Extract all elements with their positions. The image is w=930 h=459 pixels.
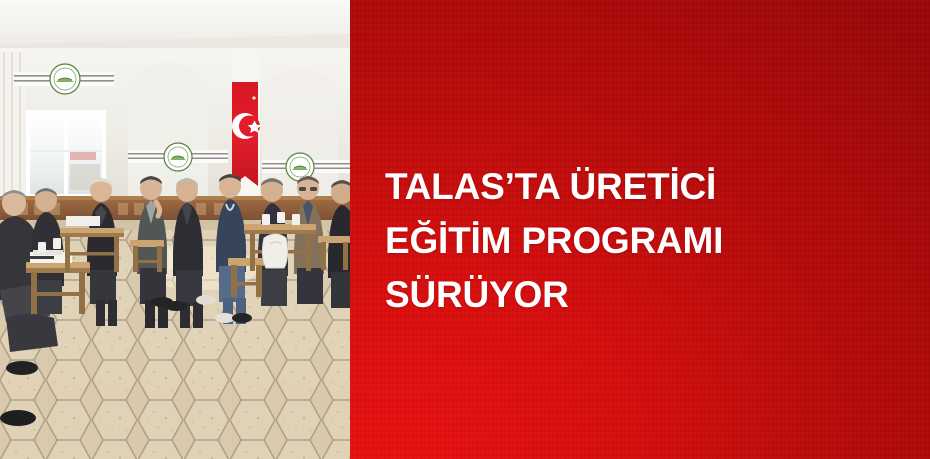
headline-line-3: SÜRÜYOR: [385, 268, 905, 322]
news-thumbnail: TALAS’TA ÜRETİCİ EĞİTİM PROGRAMI SÜRÜYOR: [0, 0, 930, 459]
news-photo: [0, 0, 350, 459]
headline-line-1: TALAS’TA ÜRETİCİ: [385, 160, 905, 214]
headline-panel: TALAS’TA ÜRETİCİ EĞİTİM PROGRAMI SÜRÜYOR: [350, 0, 930, 459]
headline-text-block: TALAS’TA ÜRETİCİ EĞİTİM PROGRAMI SÜRÜYOR: [385, 160, 905, 322]
meeting-room-photo-illustration: [0, 0, 350, 459]
headline-line-2: EĞİTİM PROGRAMI: [385, 214, 905, 268]
